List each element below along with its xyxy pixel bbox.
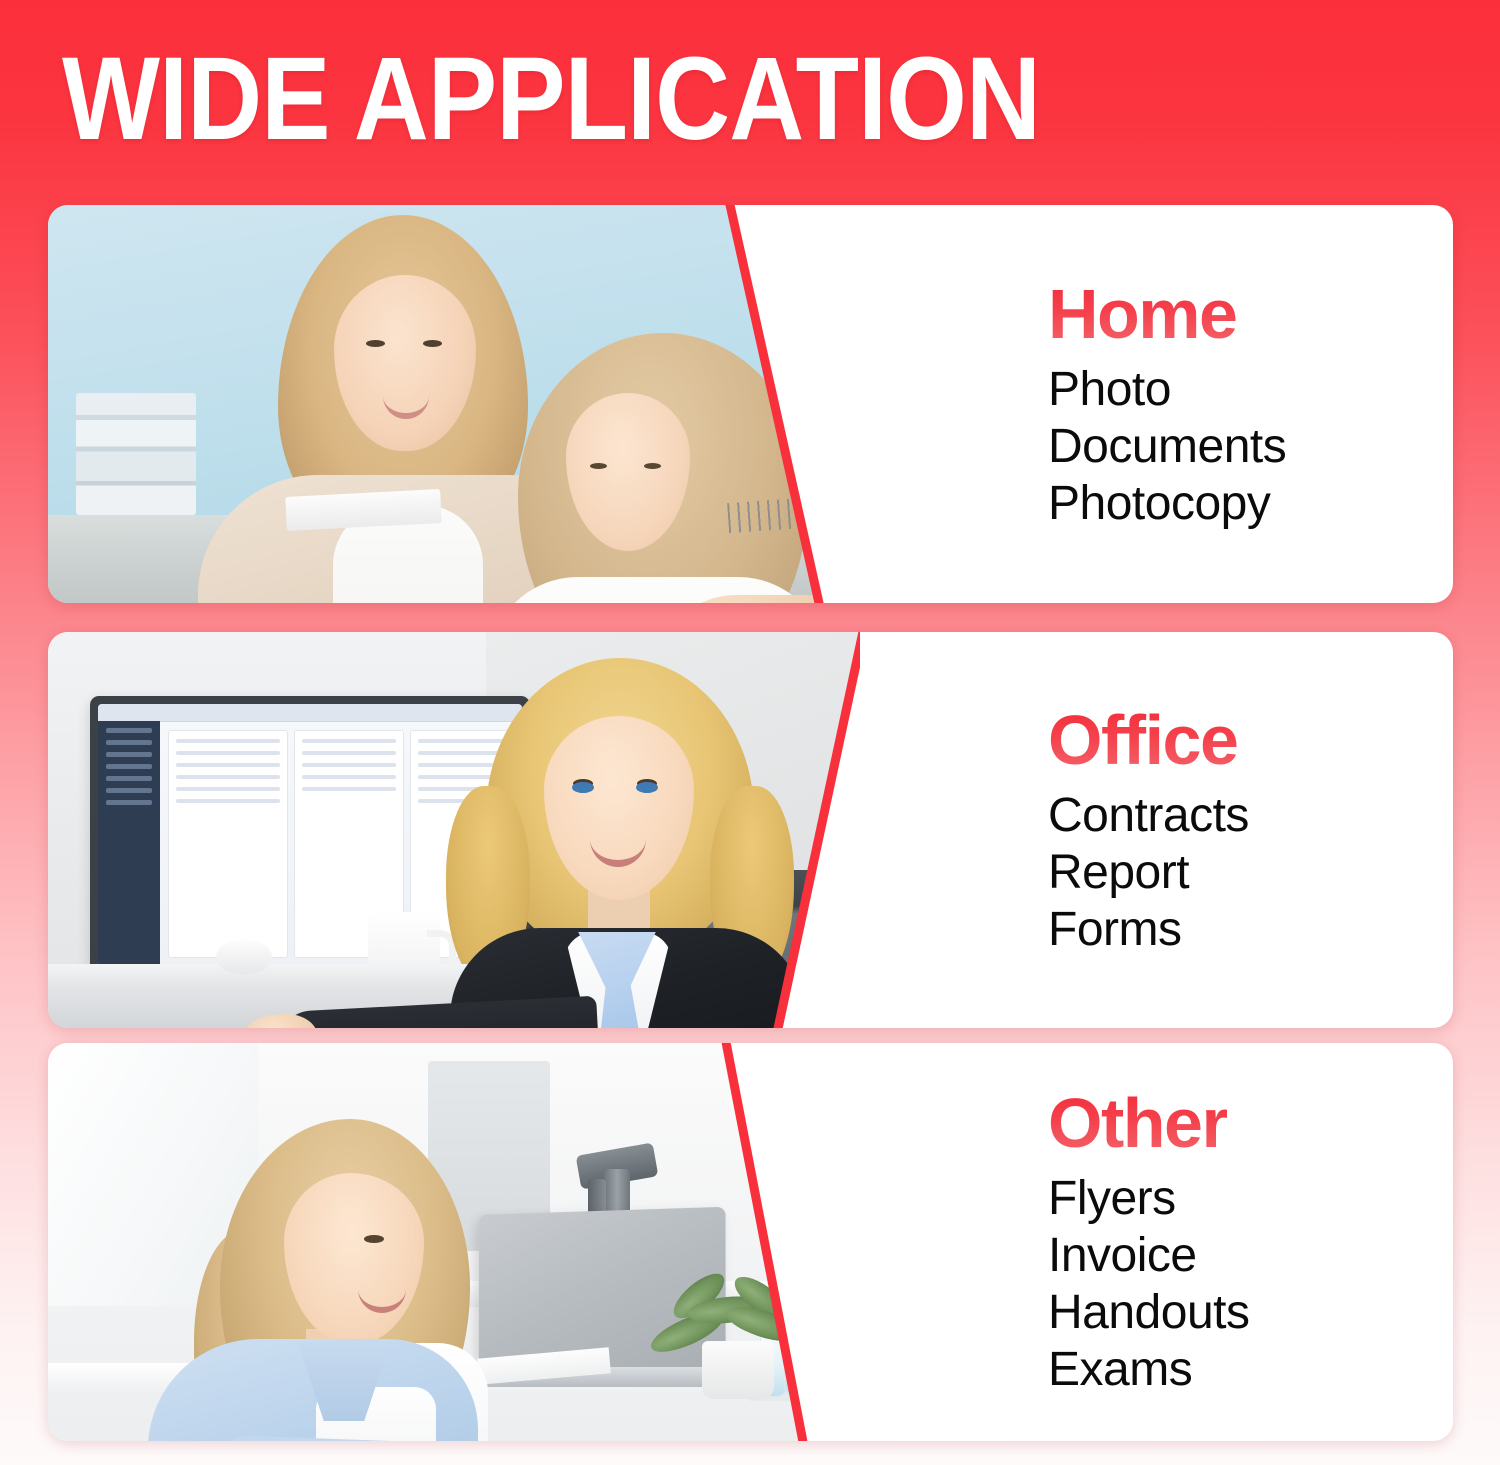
list-item: Handouts — [1048, 1284, 1453, 1341]
text-line — [302, 751, 396, 755]
child-right-eye — [644, 463, 661, 469]
text-line — [302, 787, 396, 791]
text-line — [418, 751, 508, 755]
woman-left-eye — [572, 782, 594, 793]
photo-other — [48, 1043, 848, 1441]
text-panel-other: Other Flyers Invoice Handouts Exams — [1000, 1043, 1453, 1441]
photo-office — [48, 632, 860, 1028]
page-title: WIDE APPLICATION — [62, 34, 1276, 164]
sidebar-row — [106, 788, 152, 793]
text-line — [176, 799, 280, 803]
card-items-office: Contracts Report Forms — [1048, 787, 1453, 958]
sidebar-row — [106, 776, 152, 781]
text-panel-office: Office Contracts Report Forms — [1000, 632, 1453, 1028]
list-item: Photo — [1048, 361, 1453, 418]
plant-pot — [702, 1341, 774, 1399]
application-card-other: Other Flyers Invoice Handouts Exams — [48, 1043, 1453, 1441]
sidebar-row — [106, 752, 152, 757]
wide-application-infographic: WIDE APPLICATION — [0, 0, 1500, 1465]
text-line — [176, 775, 280, 779]
book-stack — [76, 393, 196, 515]
child-left-eye — [590, 463, 607, 469]
text-line — [176, 751, 280, 755]
text-line — [176, 763, 280, 767]
list-item: Exams — [1048, 1341, 1453, 1398]
text-line — [418, 739, 508, 743]
mother-right-eye — [423, 340, 442, 347]
screen-sidebar — [98, 721, 160, 966]
card-heading-other: Other — [1048, 1086, 1227, 1160]
sidebar-row — [106, 764, 152, 769]
card-heading-home: Home — [1048, 277, 1236, 351]
list-item: Report — [1048, 844, 1453, 901]
photo-home — [48, 205, 860, 603]
text-line — [176, 787, 280, 791]
text-line — [302, 775, 396, 779]
office-desk-illustration — [48, 632, 860, 1028]
woman-right-eye — [636, 782, 658, 793]
card-heading-office: Office — [1048, 703, 1237, 777]
computer-mouse — [216, 940, 272, 974]
sidebar-row — [106, 800, 152, 805]
mother-left-eye — [366, 340, 385, 347]
woman-eye — [364, 1235, 384, 1243]
list-item: Flyers — [1048, 1170, 1453, 1227]
text-line — [302, 763, 396, 767]
card-items-other: Flyers Invoice Handouts Exams — [1048, 1170, 1453, 1398]
screen-column — [168, 730, 288, 958]
text-line — [302, 739, 396, 743]
laboratory-illustration — [48, 1043, 848, 1441]
list-item: Forms — [1048, 901, 1453, 958]
list-item: Documents — [1048, 418, 1453, 475]
screen-toolbar — [98, 704, 522, 722]
application-card-office: Office Contracts Report Forms — [48, 632, 1453, 1028]
list-item: Contracts — [1048, 787, 1453, 844]
sidebar-row — [106, 740, 152, 745]
list-item: Photocopy — [1048, 475, 1453, 532]
text-panel-home: Home Photo Documents Photocopy — [1000, 205, 1453, 603]
card-items-home: Photo Documents Photocopy — [1048, 361, 1453, 532]
text-line — [176, 739, 280, 743]
list-item: Invoice — [1048, 1227, 1453, 1284]
application-card-home: Home Photo Documents Photocopy — [48, 205, 1453, 603]
sidebar-row — [106, 728, 152, 733]
